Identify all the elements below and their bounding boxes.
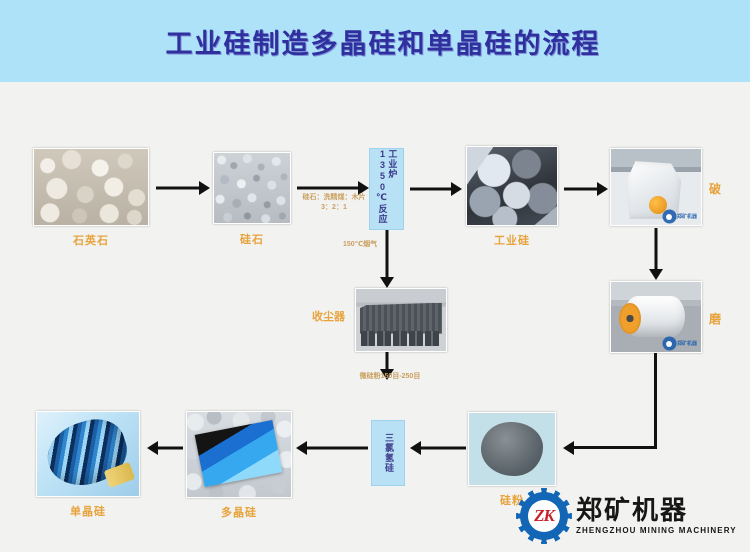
arrow-silicon-powder-to-trichlorosilane	[410, 440, 466, 456]
ball-mill-photo: 郑矿机器	[610, 281, 702, 353]
arrow-crusher-to-ball-mill	[648, 228, 664, 280]
arrow-furnace-to-dust-collector	[379, 230, 395, 288]
header-band: 工业硅制造多晶硅和单晶硅的流程	[0, 0, 750, 82]
crusher-photo: 郑矿机器	[610, 148, 702, 226]
monosilicon-photo	[36, 411, 140, 497]
flow-diagram-page: 工业硅制造多晶硅和单晶硅的流程 石英石 硅石 硅石：洗精煤：木片 3：2：1 工…	[0, 0, 750, 552]
logo-name-en: ZHENGZHOU MINING MACHINERY	[576, 526, 737, 535]
monosilicon-image	[37, 412, 139, 496]
company-logo: ZK 郑矿机器 ZHENGZHOU MINING MACHINERY	[520, 492, 737, 540]
furnace-label: 工业炉1350℃反应	[377, 149, 397, 229]
silicon-powder-photo	[468, 412, 556, 486]
mix-ratio-note: 硅石：洗精煤：木片 3：2：1	[296, 193, 372, 213]
polysilicon-photo	[186, 411, 292, 498]
polysilicon-image	[187, 412, 291, 497]
monosilicon-caption: 单晶硅	[36, 503, 140, 519]
industrial-silicon-image	[467, 147, 557, 225]
arrow-furnace-to-industrial-silicon	[410, 181, 462, 197]
page-title: 工业硅制造多晶硅和单晶硅的流程	[150, 22, 601, 61]
connector-ball-mill-down	[654, 353, 657, 448]
trichlorosilane-label: 三氯氢硅	[383, 433, 393, 473]
flue-gas-note: 150℃烟气	[343, 240, 415, 250]
logo-name-cn: 郑矿机器	[576, 497, 737, 524]
silica-gravel-photo	[213, 152, 291, 224]
dust-collector-photo	[355, 288, 447, 352]
arrow-quartz-to-silica	[156, 180, 210, 196]
microsilica-note: 微硅粉150目-250目	[331, 372, 449, 382]
watermark-gear-icon	[664, 338, 675, 349]
quartz-stone-caption: 石英石	[33, 232, 149, 248]
dust-collector-label: 收尘器	[312, 308, 345, 324]
logo-monogram: ZK	[534, 506, 554, 526]
arrow-trichlorosilane-to-polysilicon	[296, 440, 368, 456]
ball-mill-watermark: 郑矿机器	[664, 338, 697, 349]
arrow-into-silicon-powder	[563, 440, 583, 456]
arrow-industrial-silicon-to-crusher	[564, 181, 608, 197]
logo-text-block: 郑矿机器 ZHENGZHOU MINING MACHINERY	[576, 497, 737, 535]
watermark-gear-icon	[664, 211, 675, 222]
mix-ratio-line-2: 3：2：1	[296, 203, 372, 213]
industrial-silicon-photo	[466, 146, 558, 226]
quartz-stone-photo	[33, 148, 149, 226]
mix-ratio-line-1: 硅石：洗精煤：木片	[296, 193, 372, 203]
silica-caption: 硅石	[213, 231, 291, 247]
connector-ball-mill-to-powder	[573, 446, 657, 449]
industrial-silicon-caption: 工业硅	[466, 232, 558, 248]
silicon-powder-image	[469, 413, 555, 485]
polysilicon-caption: 多晶硅	[186, 504, 292, 520]
quartz-stone-image	[34, 149, 148, 225]
watermark-text: 郑矿机器	[677, 340, 697, 347]
dust-collector-image	[356, 289, 446, 351]
furnace-process-box[interactable]: 工业炉1350℃反应	[369, 148, 404, 230]
arrow-polysilicon-to-monosilicon	[147, 440, 183, 456]
ball-mill-side-label: 磨	[709, 310, 721, 327]
crusher-watermark: 郑矿机器	[664, 211, 697, 222]
crusher-side-label: 破	[709, 180, 721, 197]
silica-gravel-image	[214, 153, 290, 223]
watermark-text: 郑矿机器	[677, 213, 697, 220]
gear-logo-icon: ZK	[520, 492, 568, 540]
gear-hub: ZK	[528, 500, 560, 532]
trichlorosilane-process-box[interactable]: 三氯氢硅	[371, 420, 405, 486]
